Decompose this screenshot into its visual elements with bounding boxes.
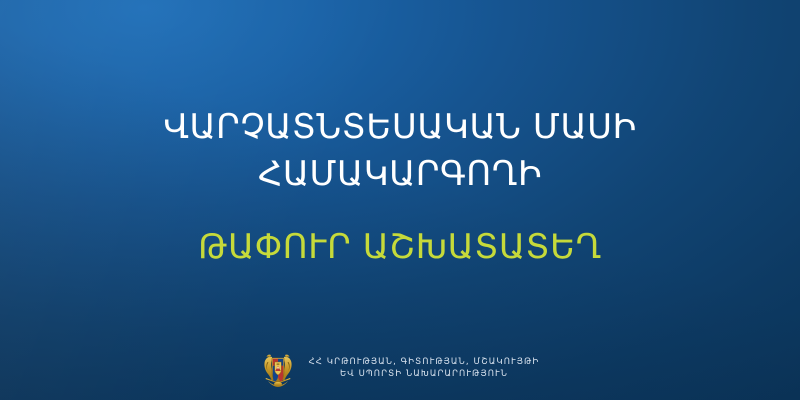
ministry-line-2: ԵՎ ՍՊՈՐՏԻ ՆԱԽԱՐԱՐՈՒԹՅՈՒՆ (340, 368, 508, 380)
ministry-line-1: ՀՀ ԿՐԹՈՒԹՅԱՆ, ԳԻՏՈՒԹՅԱՆ, ՄՇԱԿՈՒՅԹԻ (309, 356, 540, 368)
headline-accent-line: ԹԱՓՈՒՐ ԱՇԽԱՏԱՏԵՂ (0, 224, 800, 271)
ministry-name: ՀՀ ԿՐԹՈՒԹՅԱՆ, ԳԻՏՈՒԹՅԱՆ, ՄՇԱԿՈՒՅԹԻ ԵՎ ՍՊ… (309, 356, 540, 380)
footer: ՀՀ ԿՐԹՈՒԹՅԱՆ, ԳԻՏՈՒԹՅԱՆ, ՄՇԱԿՈՒՅԹԻ ԵՎ ՍՊ… (0, 348, 800, 388)
announcement-banner: ՎԱՐՉԱՏՆՏԵՍԱԿԱՆ ՄԱՍԻ ՀԱՄԱԿԱՐԳՈՂԻ ԹԱՓՈՒՐ Ա… (0, 0, 800, 400)
headline-line-2: ՀԱՄԱԿԱՐԳՈՂԻ (0, 151, 800, 198)
headline-block: ՎԱՐՉԱՏՆՏԵՍԱԿԱՆ ՄԱՍԻ ՀԱՄԱԿԱՐԳՈՂԻ ԹԱՓՈՒՐ Ա… (0, 104, 800, 271)
headline-line-1: ՎԱՐՉԱՏՆՏԵՍԱԿԱՆ ՄԱՍԻ (0, 104, 800, 151)
armenia-coat-of-arms-icon (261, 348, 295, 388)
